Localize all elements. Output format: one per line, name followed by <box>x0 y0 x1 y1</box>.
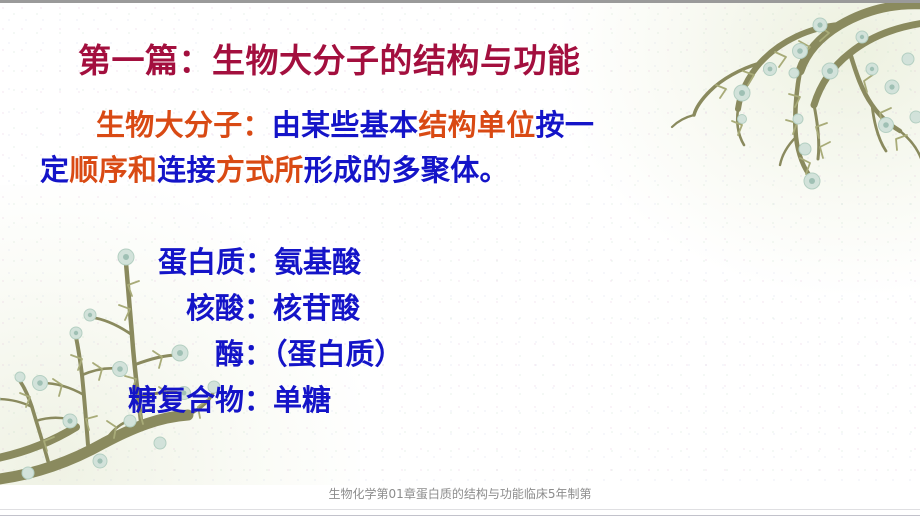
macromolecule-list: 蛋白质：氨基酸 核酸：核苷酸 酶：（蛋白质） 糖复合物：单糖 <box>0 239 560 423</box>
list-item-glycoconjugate: 糖复合物：单糖 <box>0 377 560 423</box>
definition-seg-5: 定 <box>40 153 69 187</box>
footer-divider-lower <box>0 515 920 516</box>
definition-seg-4: 按一 <box>536 108 595 142</box>
list-item-protein: 蛋白质：氨基酸 <box>0 239 560 285</box>
definition-seg-8: 方式所 <box>216 153 304 187</box>
definition-seg-6: 顺序和 <box>69 153 157 187</box>
list-item-enzyme: 酶：（蛋白质） <box>0 331 560 377</box>
top-divider <box>0 0 920 3</box>
slide-text-layer: 第一篇：生物大分子的结构与功能 生物大分子：由某些基本结构单位按一 定顺序和连接… <box>0 3 920 485</box>
definition-seg-2: 由某些基本 <box>272 108 419 142</box>
definition-line-1: 生物大分子：由某些基本结构单位按一 <box>40 103 660 148</box>
presentation-slide: 第一篇：生物大分子的结构与功能 生物大分子：由某些基本结构单位按一 定顺序和连接… <box>0 0 920 518</box>
list-item-nucleic-acid: 核酸：核苷酸 <box>0 285 560 331</box>
definition-line-2: 定顺序和连接方式所形成的多聚体。 <box>40 148 660 193</box>
slide-title: 第一篇：生物大分子的结构与功能 <box>78 41 581 81</box>
footer-caption: 生物化学第01章蛋白质的结构与功能临床5年制第 <box>0 486 920 502</box>
definition-seg-7: 连接 <box>157 153 216 187</box>
slide-canvas: 第一篇：生物大分子的结构与功能 生物大分子：由某些基本结构单位按一 定顺序和连接… <box>0 3 920 485</box>
definition-paragraph: 生物大分子：由某些基本结构单位按一 定顺序和连接方式所形成的多聚体。 <box>40 103 660 193</box>
definition-seg-term: 生物大分子： <box>96 108 272 142</box>
footer-divider-upper <box>0 509 920 510</box>
definition-seg-3: 结构单位 <box>418 108 535 142</box>
definition-seg-9: 形成的多聚体。 <box>304 153 509 187</box>
